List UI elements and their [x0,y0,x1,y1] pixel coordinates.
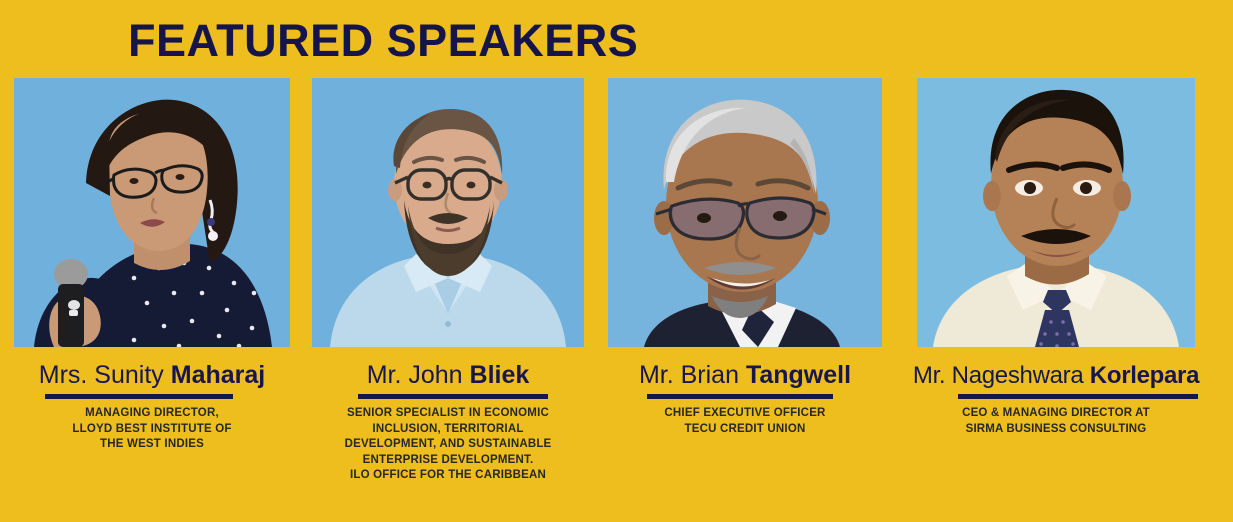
speaker-name-block: Mr. John Bliek [367,361,530,390]
portrait-illustration [608,78,882,347]
speaker-name-block: Mr. Brian Tangwell [639,361,851,390]
speaker-name: Mr. John Bliek [367,361,530,390]
speaker-role: CEO & MANAGING DIRECTOR AT SIRMA BUSINES… [962,406,1150,437]
speaker-name-first: Mr. John [367,361,470,389]
speaker-name-block: Mr. Nageshwara Korlepara [913,361,1199,390]
speaker-name-surname: Bliek [470,361,530,389]
speaker-photo [608,78,882,347]
speaker-name-surname: Korlepara [1090,362,1199,389]
speaker-photo [917,78,1195,347]
portrait-illustration [312,78,584,347]
speaker-name-first: Mrs. Sunity [39,361,171,389]
speaker-name: Mrs. Sunity Maharaj [39,361,265,390]
speaker-role: MANAGING DIRECTOR, LLOYD BEST INSTITUTE … [72,406,231,453]
speaker-card: Mr. Brian Tangwell CHIEF EXECUTIVE OFFIC… [602,78,904,522]
name-underline [358,394,548,399]
name-underline [958,394,1198,399]
speaker-name-first: Mr. Nageshwara [913,362,1090,389]
speaker-card: Mr. Nageshwara Korlepara CEO & MANAGING … [904,78,1233,522]
portrait-illustration [917,78,1195,347]
page-title: FEATURED SPEAKERS [128,16,638,66]
speaker-photo [312,78,584,347]
speaker-role: CHIEF EXECUTIVE OFFICER TECU CREDIT UNIO… [664,406,825,437]
speaker-role: SENIOR SPECIALIST IN ECONOMIC INCLUSION,… [345,406,552,484]
name-underline [647,394,833,399]
name-underline [45,394,233,399]
speaker-name: Mr. Brian Tangwell [639,361,851,390]
speaker-name: Mr. Nageshwara Korlepara [913,361,1199,390]
speaker-card: Mr. John Bliek SENIOR SPECIALIST IN ECON… [304,78,602,522]
speaker-name-surname: Maharaj [171,361,265,389]
portrait-illustration [14,78,290,347]
speaker-name-first: Mr. Brian [639,361,746,389]
featured-speakers-poster: FEATURED SPEAKERS [0,0,1233,522]
speaker-card: Mrs. Sunity Maharaj MANAGING DIRECTOR, L… [0,78,304,522]
speaker-name-surname: Tangwell [746,361,851,389]
speaker-name-block: Mrs. Sunity Maharaj [39,361,265,390]
speaker-photo [14,78,290,347]
speaker-list: Mrs. Sunity Maharaj MANAGING DIRECTOR, L… [0,78,1233,522]
